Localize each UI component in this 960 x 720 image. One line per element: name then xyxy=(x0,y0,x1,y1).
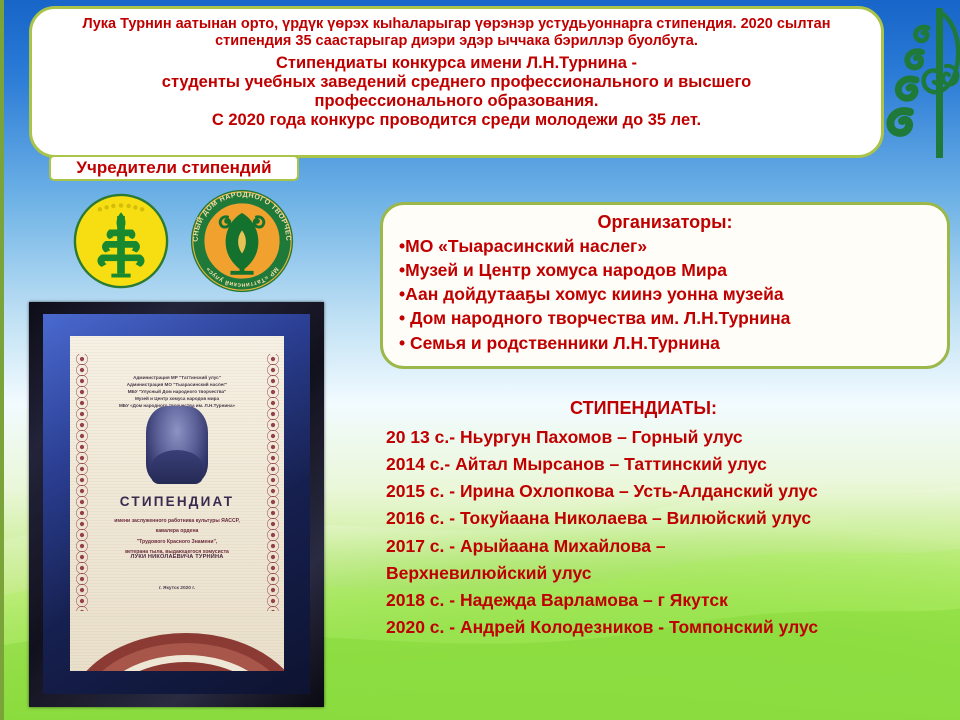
certificate-honoree-name: ЛУКИ НИКОЛАЕВИЧА ТУРНИНА xyxy=(70,554,284,560)
certificate-header-line: Музей и Центр хомуса народов мира xyxy=(84,395,270,402)
laureate-item: 2017 с. - Арыйаана Михайлова – xyxy=(386,533,960,560)
laureate-item: 2020 с. - Андрей Колодезников - Томпонск… xyxy=(386,614,960,641)
certificate-header-line: Администрация МР "Таттинский улус" xyxy=(84,374,270,381)
certificate-title: СТИПЕНДИАТ xyxy=(70,494,284,509)
khomus-ornament-icon xyxy=(884,0,960,175)
certificate-subtitle-block: имени заслуженного работника культуры ЯА… xyxy=(86,516,268,558)
certificate-photo: ⦿⦿⦿⦿⦿⦿⦿⦿⦿⦿⦿⦿⦿⦿⦿⦿⦿⦿⦿⦿⦿⦿⦿⦿⦿⦿⦿⦿⦿⦿ ⦿⦿⦿⦿⦿⦿⦿⦿⦿… xyxy=(29,302,324,707)
laureate-item: 2015 с. - Ирина Охлопкова – Усть-Алданск… xyxy=(386,478,960,505)
laureate-item: 2016 с. - Токуйаана Николаева – Вилюйски… xyxy=(386,505,960,532)
laureates-title: СТИПЕНДИАТЫ: xyxy=(386,398,960,419)
header-line-3: Стипендиаты конкурса имени Л.Н.Турнина - xyxy=(46,54,867,73)
certificate-header-block: Администрация МР "Таттинский улус" Админ… xyxy=(84,374,270,410)
organizer-item: •Аан дойдутааҕы хомус киинэ уонна музейа xyxy=(399,282,931,306)
header-banner: Лука Турнин аатынан орто, үрдүк үөрэх кы… xyxy=(29,6,884,158)
header-line-1: Лука Турнин аатынан орто, үрдүк үөрэх кы… xyxy=(46,16,867,33)
turnin-portrait xyxy=(146,406,208,484)
certificate-frame-inner: ⦿⦿⦿⦿⦿⦿⦿⦿⦿⦿⦿⦿⦿⦿⦿⦿⦿⦿⦿⦿⦿⦿⦿⦿⦿⦿⦿⦿⦿⦿ ⦿⦿⦿⦿⦿⦿⦿⦿⦿… xyxy=(43,314,310,694)
laureates-list: СТИПЕНДИАТЫ: 20 13 с.- Ньургун Пахомов –… xyxy=(386,398,960,641)
certificate-subtitle-line: имени заслуженного работника культуры ЯА… xyxy=(86,516,268,526)
slide-canvas: Лука Турнин аатынан орто, үрдүк үөрэх кы… xyxy=(0,0,960,720)
laureate-item: 2014 с.- Айтал Мырсанов – Таттинский улу… xyxy=(386,451,960,478)
certificate-subtitle-line: "Трудового Красного Знамени", xyxy=(86,537,268,547)
header-line-4: студенты учебных заведений среднего проф… xyxy=(46,73,867,92)
certificate-subtitle-line: кавалера ордена xyxy=(86,526,268,536)
certificate-header-line: МБУ "Улусный Дом народного творчества" xyxy=(84,388,270,395)
founders-label: Учредители стипендий xyxy=(49,155,299,181)
laureate-item: 2018 с. - Надежда Варламова – г Якутск xyxy=(386,587,960,614)
laureate-item: 20 13 с.- Ньургун Пахомов – Горный улус xyxy=(386,424,960,451)
founders-label-text: Учредители стипендий xyxy=(76,158,271,178)
house-of-folk-art-emblem: УЛУСНЫЙ ДОМ НАРОДНОГО ТВОРЧЕСТВА МР «Тат… xyxy=(189,188,295,294)
laureate-item: Верхневилюйский улус xyxy=(386,560,960,587)
header-line-5: профессионального образования. xyxy=(46,92,867,111)
certificate-arc-ornament xyxy=(70,589,284,671)
organizer-item: •МО «Тыарасинский наслег» xyxy=(399,234,931,258)
organizers-box: Организаторы: •МО «Тыарасинский наслег» … xyxy=(380,202,950,369)
header-line-2: стипендия 35 саастарыгар диэри эдэр ычча… xyxy=(46,33,867,50)
organizer-item: •Музей и Центр хомуса народов Мира xyxy=(399,258,931,282)
header-line-6: С 2020 года конкурс проводится среди мол… xyxy=(46,111,867,130)
organizers-title: Организаторы: xyxy=(399,212,931,233)
organizer-item: • Семья и родственники Л.Н.Турнина xyxy=(399,331,931,355)
certificate-paper: ⦿⦿⦿⦿⦿⦿⦿⦿⦿⦿⦿⦿⦿⦿⦿⦿⦿⦿⦿⦿⦿⦿⦿⦿⦿⦿⦿⦿⦿⦿ ⦿⦿⦿⦿⦿⦿⦿⦿⦿… xyxy=(70,336,284,671)
tyarasa-nasleg-emblem xyxy=(73,193,169,289)
certificate-header-line: Администрация МО "Тыарасинский наслег" xyxy=(84,381,270,388)
organizer-item: • Дом народного творчества им. Л.Н.Турни… xyxy=(399,306,931,330)
